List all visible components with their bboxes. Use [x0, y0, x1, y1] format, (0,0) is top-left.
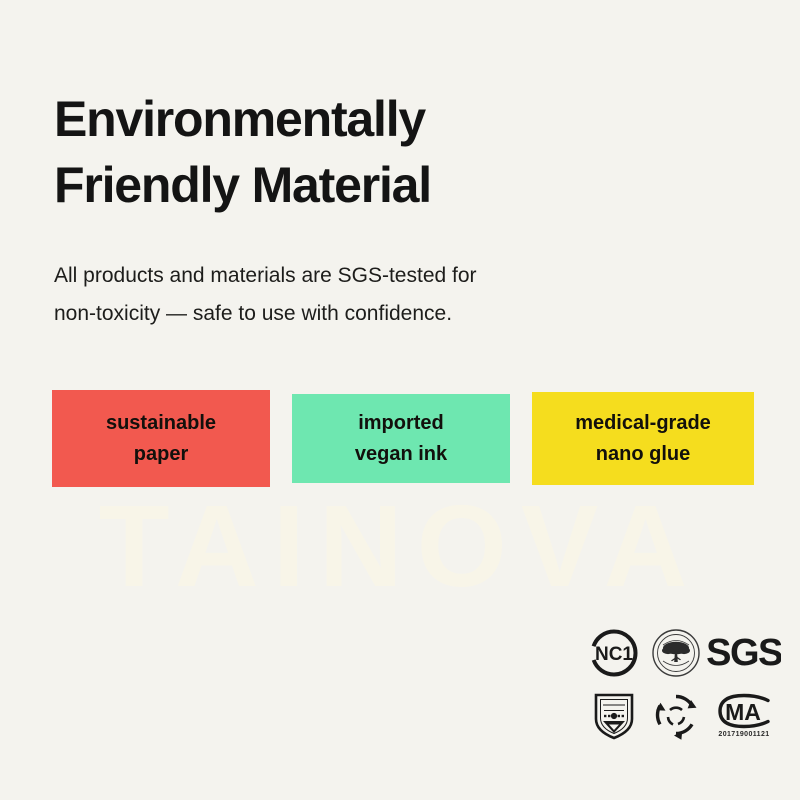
material-chip-imported-vegan-ink: imported vegan ink — [292, 394, 510, 483]
page-title-line-2: Friendly Material — [54, 152, 694, 218]
material-chip-line-2: nano glue — [596, 439, 690, 470]
material-chip-line-2: vegan ink — [355, 439, 447, 470]
recycling-arrows-icon — [645, 684, 707, 746]
material-chip-medical-grade-nano-glue: medical-grade nano glue — [532, 392, 754, 485]
poster-canvas: TAINOVA Environmentally Friendly Materia… — [0, 0, 800, 800]
shield-quality-icon — [583, 684, 645, 746]
certification-badge-grid: NC1 SG — [583, 622, 781, 748]
cma-certificate-number: 201719001121 — [718, 731, 769, 738]
forestry-tree-seal-icon — [645, 622, 707, 684]
sgs-wordmark: SGS — [707, 622, 781, 684]
svg-text:MA: MA — [725, 699, 761, 725]
material-chip-line-2: paper — [134, 439, 188, 470]
material-chip-line-1: medical-grade — [575, 408, 711, 439]
material-chip-line-1: sustainable — [106, 408, 216, 439]
material-chip-row: sustainable paper imported vegan ink med… — [52, 389, 762, 495]
material-chip-sustainable-paper: sustainable paper — [52, 390, 270, 487]
description-text: All products and materials are SGS-teste… — [54, 257, 674, 333]
nc1-circle-icon: NC1 — [583, 622, 645, 684]
description-line-2: non-toxicity — safe to use with confiden… — [54, 295, 674, 333]
brand-watermark: TAINOVA — [0, 488, 800, 604]
material-chip-line-1: imported — [358, 408, 444, 439]
cma-oval-icon: MA 201719001121 — [707, 684, 781, 746]
description-line-1: All products and materials are SGS-teste… — [54, 257, 674, 295]
page-title: Environmentally Friendly Material — [54, 86, 694, 218]
page-title-line-1: Environmentally — [54, 86, 694, 152]
svg-text:NC1: NC1 — [595, 644, 633, 665]
